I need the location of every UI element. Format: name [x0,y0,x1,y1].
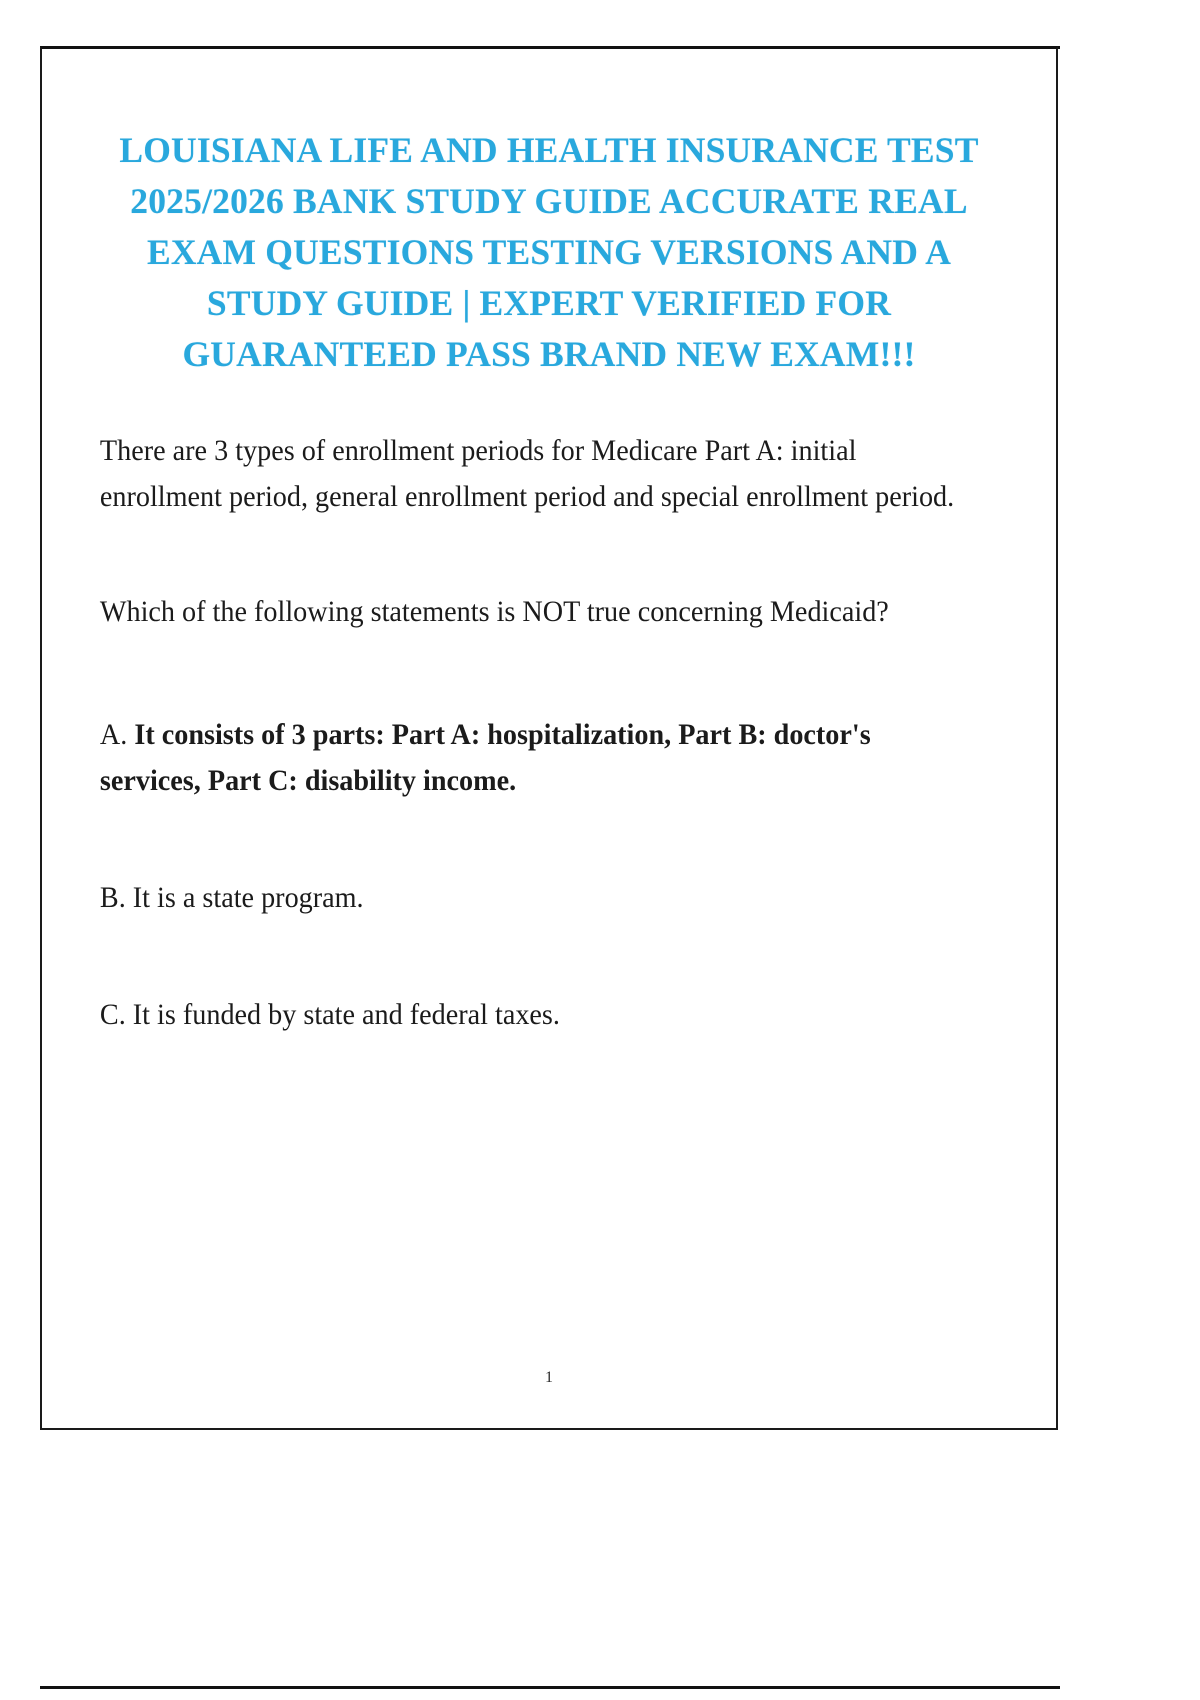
answer-option-b: B. It is a state program. [98,804,959,921]
answer-c-label: C. [100,999,126,1031]
answer-b-text: It is a state program. [133,882,364,914]
page-sheet-1: LOUISIANA LIFE AND HEALTH INSURANCE TEST… [40,46,1058,1430]
answer-c-text: It is funded by state and federal taxes. [133,999,560,1031]
answer-option-c: C. It is funded by state and federal tax… [98,921,959,1038]
answer-option-a: A. It consists of 3 parts: Part A: hospi… [98,635,959,804]
next-page-top-rule [40,1686,1060,1689]
document-viewport: LOUISIANA LIFE AND HEALTH INSURANCE TEST… [0,0,1200,1700]
answer-a-text: It consists of 3 parts: Part A: hospital… [100,719,871,797]
page-number: 1 [42,1369,1056,1387]
page-title: LOUISIANA LIFE AND HEALTH INSURANCE TEST… [98,49,1000,380]
answer-a-label: A. [100,719,127,751]
intro-paragraph: There are 3 types of enrollment periods … [98,380,959,520]
question-text: Which of the following statements is NOT… [98,520,959,635]
page-content-area: LOUISIANA LIFE AND HEALTH INSURANCE TEST… [42,49,1056,1428]
answer-b-label: B. [100,882,126,914]
